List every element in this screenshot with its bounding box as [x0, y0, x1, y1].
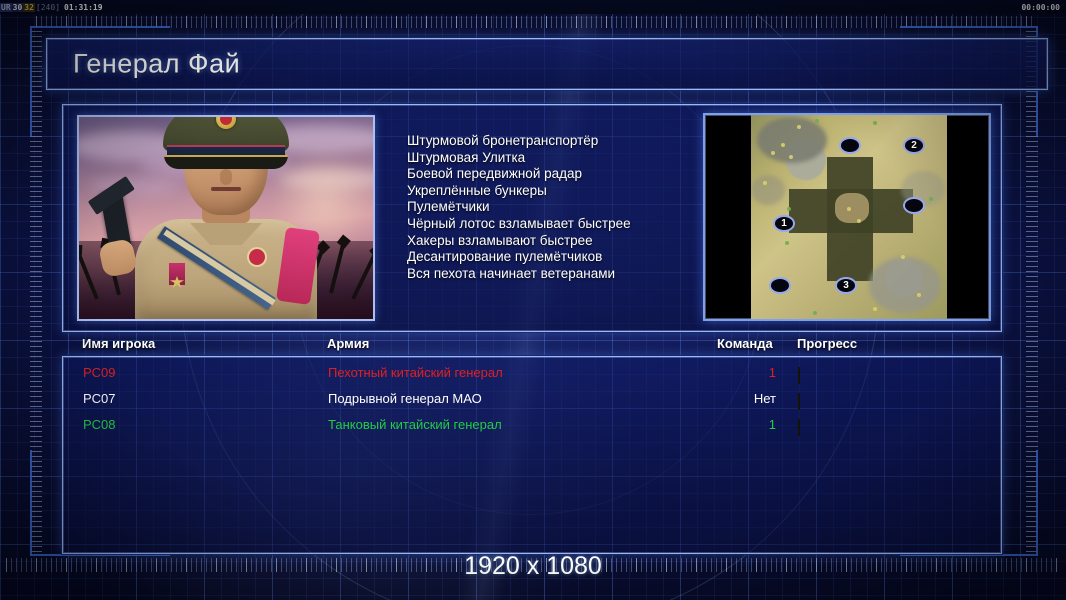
rifle-icon: [329, 242, 345, 293]
resolution-label: 1920 x 1080: [0, 552, 1066, 581]
player-name: PC09: [83, 365, 116, 380]
player-progress-bar: [798, 394, 990, 405]
map-start-position[interactable]: 2: [903, 137, 925, 154]
uniform-epaulette: [276, 227, 320, 305]
map-rocks: [869, 257, 941, 313]
column-header-team: Команда: [717, 336, 773, 351]
title-panel: Генерал Фай: [46, 38, 1048, 90]
map-start-position[interactable]: [769, 277, 791, 294]
map-start-position[interactable]: [839, 137, 861, 154]
player-team: 1: [718, 365, 776, 380]
map-start-position[interactable]: 3: [835, 277, 857, 294]
cap-brim: [164, 155, 288, 169]
map-resource-marker: [771, 151, 775, 155]
status-value-1: 30: [12, 3, 24, 12]
top-status-bar: UR 30 32 [240] 01:31:19 00:00:00: [0, 0, 1066, 14]
map-rocks: [751, 175, 785, 205]
frame-corner-top-left: [30, 26, 170, 28]
player-progress-bar: [798, 420, 990, 431]
map-resource-marker: [789, 155, 793, 159]
frame-edge-left-lower: [30, 450, 32, 556]
rifle-icon: [351, 251, 375, 299]
ability-item: Чёрный лотос взламывает быстрее: [407, 216, 717, 233]
ability-item: Штурмовой бронетранспортёр: [407, 133, 717, 150]
map-start-position[interactable]: [903, 197, 925, 214]
page-title: Генерал Фай: [73, 49, 240, 80]
mouth: [211, 187, 241, 191]
rifle-icon: [77, 250, 99, 300]
general-portrait: [77, 115, 375, 321]
status-value-2: 32: [23, 3, 35, 12]
map-resource-marker: [763, 181, 767, 185]
player-army: Танковый китайский генерал: [328, 417, 502, 432]
ruler-top: [36, 16, 1036, 28]
map-center-hub: [835, 193, 869, 223]
status-bracket: [240]: [35, 3, 61, 12]
player-name: PC07: [83, 391, 116, 406]
column-header-army: Армия: [327, 336, 369, 351]
status-ur-label: UR: [0, 3, 12, 12]
ability-item: Вся пехота начинает ветеранами: [407, 266, 717, 283]
player-army: Пехотный китайский генерал: [328, 365, 503, 380]
ability-item: Штурмовая Улитка: [407, 150, 717, 167]
game-lobby-screen: UR 30 32 [240] 01:31:19 00:00:00 Генерал…: [0, 0, 1066, 600]
map-resource-marker: [781, 143, 785, 147]
map-resource-marker: [797, 125, 801, 129]
uniform-star-badge: [249, 249, 265, 265]
map-resource-marker: [815, 119, 819, 123]
map-resource-marker: [873, 121, 877, 125]
table-row[interactable]: PC07 Подрывной генерал МАО Нет: [63, 389, 1001, 411]
map-start-position[interactable]: 1: [773, 215, 795, 232]
map-resource-marker: [787, 207, 791, 211]
column-header-name: Имя игрока: [82, 336, 155, 351]
general-abilities-list: Штурмовой бронетранспортёр Штурмовая Ули…: [407, 133, 717, 282]
map-resource-marker: [901, 255, 905, 259]
frame-edge-left: [30, 26, 32, 136]
player-army: Подрывной генерал МАО: [328, 391, 482, 406]
map-resource-marker: [813, 311, 817, 315]
players-table-header: Имя игрока Армия Команда Прогресс: [62, 336, 1002, 358]
player-team: 1: [718, 417, 776, 432]
ability-item: Десантирование пулемётчиков: [407, 249, 717, 266]
column-header-progress: Прогресс: [797, 336, 857, 351]
frame-edge-right-lower: [1036, 450, 1038, 556]
map-resource-marker: [857, 219, 861, 223]
uniform-medal: [169, 263, 185, 285]
table-row[interactable]: PC09 Пехотный китайский генерал 1: [63, 363, 1001, 385]
map-resource-marker: [785, 241, 789, 245]
ability-item: Укреплённые бункеры: [407, 183, 717, 200]
map-resource-marker: [917, 293, 921, 297]
ability-item: Хакеры взламывают быстрее: [407, 233, 717, 250]
player-progress-bar: [798, 368, 990, 379]
frame-corner-top-right: [900, 26, 1038, 28]
status-elapsed-timer: 01:31:19: [63, 3, 104, 12]
map-preview[interactable]: 2 1 3: [703, 113, 991, 321]
map-resource-marker: [873, 307, 877, 311]
status-right-timer: 00:00:00: [1021, 3, 1066, 12]
general-info-panel: Штурмовой бронетранспортёр Штурмовая Ули…: [62, 104, 1002, 332]
player-team: Нет: [718, 391, 776, 406]
uniform-collar: [190, 223, 262, 245]
players-list-panel: PC09 Пехотный китайский генерал 1 PC07 П…: [62, 356, 1002, 554]
player-name: PC08: [83, 417, 116, 432]
general-uniform: [135, 219, 317, 321]
map-resource-marker: [847, 207, 851, 211]
nose: [220, 169, 232, 185]
map-resource-marker: [929, 197, 933, 201]
map-terrain: 2 1 3: [751, 115, 947, 319]
table-row[interactable]: PC08 Танковый китайский генерал 1: [63, 415, 1001, 437]
ability-item: Боевой передвижной радар: [407, 166, 717, 183]
ability-item: Пулемётчики: [407, 199, 717, 216]
